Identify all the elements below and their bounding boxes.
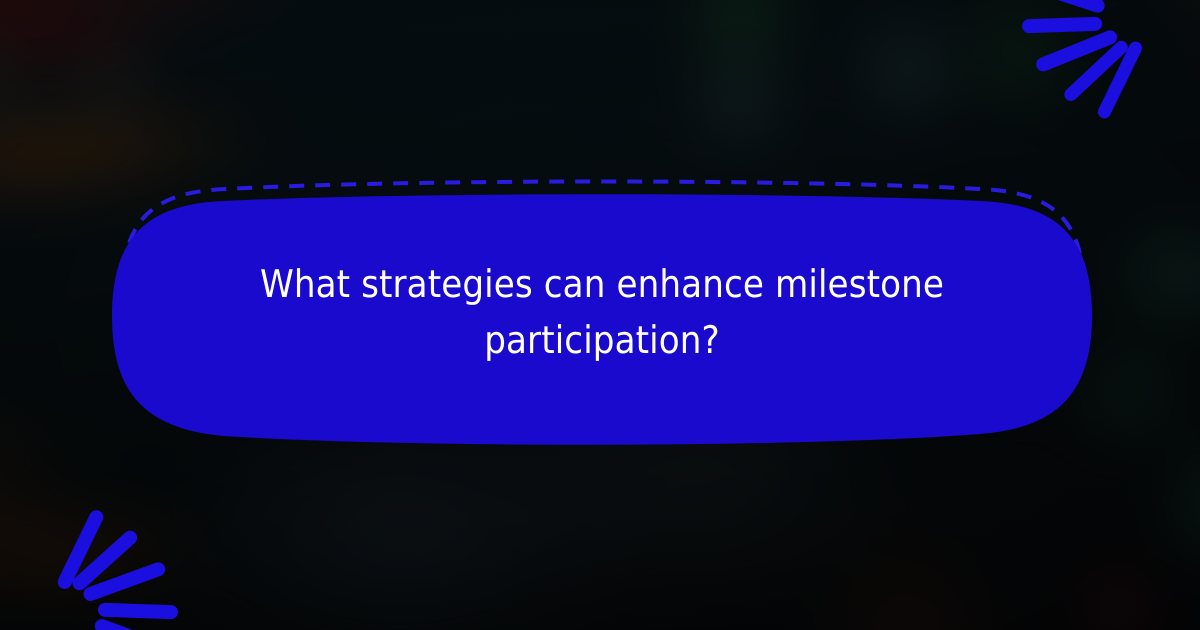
burst-ray xyxy=(1022,17,1102,34)
question-card: What strategies can enhance milestone pa… xyxy=(108,176,1096,448)
question-text: What strategies can enhance milestone pa… xyxy=(186,256,1018,368)
question-text-container: What strategies can enhance milestone pa… xyxy=(108,176,1096,448)
question-card-graphic: What strategies can enhance milestone pa… xyxy=(0,0,1200,630)
burst-ray xyxy=(98,603,178,620)
